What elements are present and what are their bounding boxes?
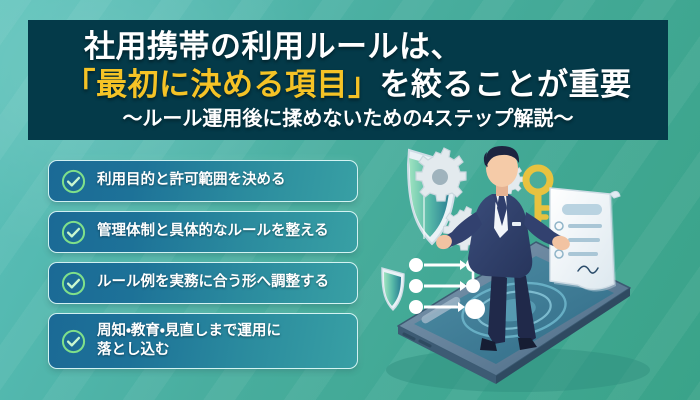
graphic-canvas: 社用携帯の利用ルールは、 「最初に決める項目」を絞ることが重要 〜ルール運用後に… [0,0,700,400]
step-card-4[interactable]: 周知・教育・見直しまで運用に 落とし込む [48,313,358,369]
title-highlight: 「最初に決める項目」 [65,67,380,102]
title-line-2: 「最初に決める項目」を絞ることが重要 [65,69,632,100]
check-circle-icon [61,220,86,245]
step-card-1[interactable]: 利用目的と許可範囲を決める [48,160,358,202]
step-label: 管理体制と具体的なルールを整える [97,222,329,241]
step-card-3[interactable]: ルール例を実務に合う形へ調整する [48,262,358,304]
step-label: 利用目的と許可範囲を決める [97,171,286,190]
check-circle-icon [61,169,86,194]
title-line-1: 社用携帯の利用ルールは、 [84,31,612,62]
hero-illustration [368,138,700,400]
check-circle-icon [61,271,86,296]
key-icon [526,168,550,220]
small-shield-icon [382,268,404,310]
step-label: ルール例を実務に合う形へ調整する [97,273,329,292]
title-banner: 社用携帯の利用ルールは、 「最初に決める項目」を絞ることが重要 〜ルール運用後に… [28,20,668,140]
subtitle: 〜ルール運用後に揉めないための4ステップ解説〜 [122,109,573,129]
check-circle-icon [61,329,86,354]
step-label: 周知・教育・見直しまで運用に 落とし込む [97,322,281,360]
title-line-2-rest: を絞ることが重要 [380,67,632,102]
step-list: 利用目的と許可範囲を決める 管理体制と具体的なルールを整える ルール例を実務に合… [48,160,358,378]
step-card-2[interactable]: 管理体制と具体的なルールを整える [48,211,358,253]
